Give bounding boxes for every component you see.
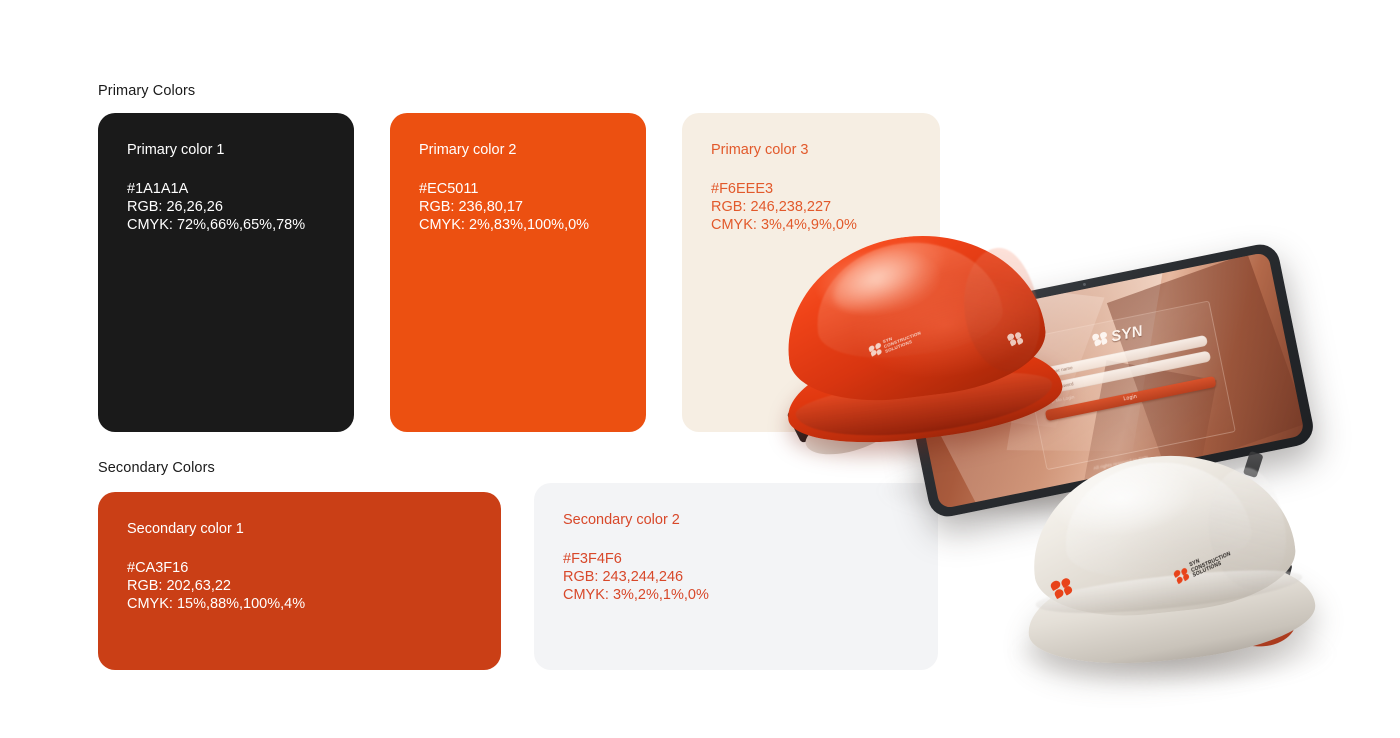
shadow-helmet-white: [1012, 618, 1332, 688]
swatch-rgb: RGB: 243,244,246: [563, 568, 909, 586]
swatch-hex: #F3F4F6: [563, 550, 909, 568]
swatch-card-primary-3[interactable]: Primary color 3 #F6EEE3 RGB: 246,238,227…: [682, 113, 940, 432]
swatch-rgb: RGB: 236,80,17: [419, 198, 617, 216]
swatch-hex: #F6EEE3: [711, 180, 911, 198]
username-field[interactable]: User name: [1036, 334, 1208, 379]
wallpaper-facet: [1107, 254, 1305, 473]
keep-me-login-checkbox[interactable]: Keep Me Login: [1043, 366, 1213, 405]
syn-logo-icon: [1006, 330, 1025, 348]
helmet-brand-lockup: SYN CONSTRUCTION SOLUTIONS: [1173, 546, 1234, 587]
helmet-band: [1034, 562, 1304, 622]
swatch-cmyk: CMYK: 2%,83%,100%,0%: [419, 216, 617, 234]
helmet-ridge: [1203, 464, 1291, 593]
swatch-label: Primary color 3: [711, 143, 911, 158]
helmet-brim: [1023, 545, 1320, 675]
user-icon: [1040, 370, 1046, 377]
login-button[interactable]: Login: [1044, 375, 1216, 420]
tablet-footer-text: All rights reserved to SYN: [938, 423, 1304, 502]
swatch-specs: #CA3F16 RGB: 202,63,22 CMYK: 15%,88%,100…: [127, 559, 472, 614]
wallpaper-facet: [1082, 360, 1216, 509]
primary-colors-heading: Primary Colors: [98, 83, 195, 99]
syn-logo-icon: [1173, 566, 1191, 585]
wallpaper-facet: [1006, 252, 1166, 451]
helmet-shell: [1024, 443, 1301, 626]
swatch-cmyk: CMYK: 3%,4%,9%,0%: [711, 216, 911, 234]
swatch-cmyk: CMYK: 15%,88%,100%,4%: [127, 595, 472, 613]
login-panel: SYN User name Password Keep Me Login Log…: [1020, 300, 1236, 470]
lock-icon: [1044, 385, 1050, 392]
swatch-label: Secondary color 1: [127, 522, 472, 537]
syn-logo-icon: [1091, 331, 1108, 347]
swatch-label: Secondary color 2: [563, 513, 909, 528]
helmet-clip: [1269, 561, 1293, 594]
username-placeholder: User name: [1049, 365, 1073, 375]
tablet-device: SYN User name Password Keep Me Login Log…: [891, 241, 1316, 520]
swatch-specs: #F3F4F6 RGB: 243,244,246 CMYK: 3%,2%,1%,…: [563, 550, 909, 605]
swatch-card-secondary-1[interactable]: Secondary color 1 #CA3F16 RGB: 202,63,22…: [98, 492, 501, 670]
swatch-card-secondary-2[interactable]: Secondary color 2 #F3F4F6 RGB: 243,244,2…: [534, 483, 938, 670]
brand-line-2: CONSTRUCTION: [1191, 551, 1232, 574]
white-hard-hat: SYN CONSTRUCTION SOLUTIONS: [1011, 435, 1323, 689]
swatch-hex: #CA3F16: [127, 559, 472, 577]
swatch-specs: #EC5011 RGB: 236,80,17 CMYK: 2%,83%,100%…: [419, 180, 617, 235]
helmet-red-brim-insert: [1223, 590, 1299, 649]
swatch-card-primary-1[interactable]: Primary color 1 #1A1A1A RGB: 26,26,26 CM…: [98, 113, 354, 432]
swatch-hex: #1A1A1A: [127, 180, 325, 198]
tablet-camera-icon: [1083, 283, 1087, 287]
login-brand-lockup: SYN: [1031, 310, 1204, 361]
swatch-card-primary-2[interactable]: Primary color 2 #EC5011 RGB: 236,80,17 C…: [390, 113, 646, 432]
swatch-cmyk: CMYK: 72%,66%,65%,78%: [127, 216, 325, 234]
swatch-label: Primary color 2: [419, 143, 617, 158]
swatch-cmyk: CMYK: 3%,2%,1%,0%: [563, 586, 909, 604]
swatch-rgb: RGB: 26,26,26: [127, 198, 325, 216]
swatch-hex: #EC5011: [419, 180, 617, 198]
swatch-rgb: RGB: 246,238,227: [711, 198, 911, 216]
helmet-clip: [1243, 451, 1264, 478]
syn-logo-icon: [1050, 576, 1075, 601]
helmet-ridge: [1058, 453, 1255, 584]
helmet-ridge: [957, 244, 1046, 376]
password-field[interactable]: Password: [1039, 350, 1211, 395]
swatch-specs: #F6EEE3 RGB: 246,238,227 CMYK: 3%,4%,9%,…: [711, 180, 911, 235]
password-placeholder: Password: [1052, 381, 1074, 390]
login-wordmark: SYN: [1109, 322, 1144, 345]
swatch-rgb: RGB: 202,63,22: [127, 577, 472, 595]
secondary-colors-heading: Secondary Colors: [98, 460, 215, 476]
swatch-label: Primary color 1: [127, 143, 325, 158]
brand-style-guide-page: Primary Colors Primary color 1 #1A1A1A R…: [0, 0, 1400, 738]
tablet-screen: SYN User name Password Keep Me Login Log…: [903, 252, 1305, 509]
brand-line-3: SOLUTIONS: [1192, 561, 1222, 579]
helmet-brand-text: SYN CONSTRUCTION SOLUTIONS: [1189, 546, 1233, 579]
wallpaper-facet: [939, 375, 1155, 509]
swatch-specs: #1A1A1A RGB: 26,26,26 CMYK: 72%,66%,65%,…: [127, 180, 325, 235]
brand-line-1: SYN: [1189, 558, 1201, 568]
